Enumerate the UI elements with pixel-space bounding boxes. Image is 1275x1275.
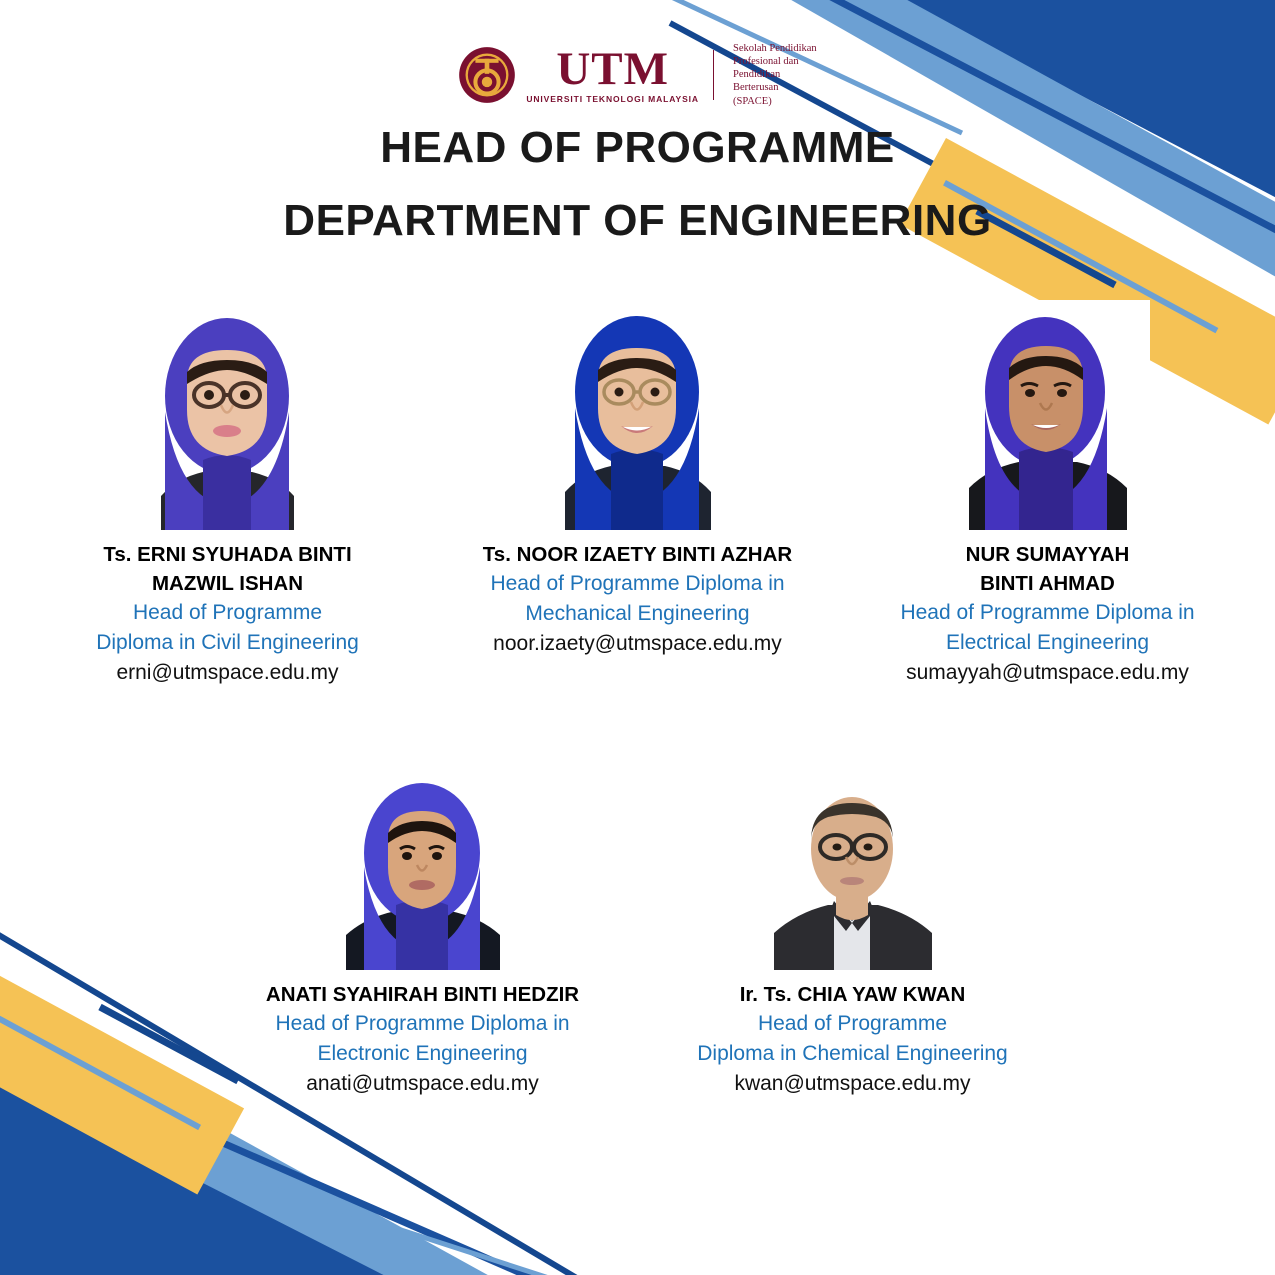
title-line-1: HEAD OF PROGRAMME [0,122,1275,175]
person-role: Head of Programme Diploma in Electrical … [900,598,1194,658]
portrait-nur-sumayyah [945,300,1150,530]
portrait-anati-syahirah [320,775,525,970]
person-email: kwan@utmspace.edu.my [734,1069,970,1099]
logo-space-text: Sekolah Pendidikan Profesional dan Pendi… [733,42,817,108]
person-email: erni@utmspace.edu.my [116,658,338,688]
avatar [535,300,740,530]
person-role: Head of Programme Diploma in Mechanical … [490,569,784,629]
portrait-chia-yaw-kwan [750,775,955,970]
person-card-nur-sumayyah: NUR SUMAYYAH BINTI AHMAD Head of Program… [843,300,1253,688]
logo-wordmark: UTM [556,46,669,93]
person-name: NUR SUMAYYAH BINTI AHMAD [966,540,1130,598]
people-row-1: Ts. ERNI SYUHADA BINTI MAZWIL ISHAN Head… [0,300,1275,688]
person-name: Ts. NOOR IZAETY BINTI AZHAR [483,540,792,569]
person-name: ANATI SYAHIRAH BINTI HEDZIR [266,980,579,1009]
people-row-2: ANATI SYAHIRAH BINTI HEDZIR Head of Prog… [0,775,1275,1099]
person-card-anati-syahirah: ANATI SYAHIRAH BINTI HEDZIR Head of Prog… [208,775,638,1099]
logo-divider [713,50,714,100]
person-role: Head of Programme Diploma in Civil Engin… [96,598,359,658]
utm-space-logo: UTM UNIVERSITI TEKNOLOGI MALAYSIA Sekola… [0,42,1275,108]
person-role: Head of Programme Diploma in Electronic … [275,1009,569,1069]
logo-tagline: UNIVERSITI TEKNOLOGI MALAYSIA [526,95,699,104]
person-name: Ir. Ts. CHIA YAW KWAN [740,980,966,1009]
person-email: sumayyah@utmspace.edu.my [906,658,1189,688]
person-role: Head of Programme Diploma in Chemical En… [697,1009,1008,1069]
avatar [320,775,525,970]
person-name: Ts. ERNI SYUHADA BINTI MAZWIL ISHAN [103,540,351,598]
person-email: anati@utmspace.edu.my [306,1069,539,1099]
person-card-erni-syuhada: Ts. ERNI SYUHADA BINTI MAZWIL ISHAN Head… [23,300,433,688]
title-line-2: DEPARTMENT OF ENGINEERING [0,195,1275,248]
poster-canvas: UTM UNIVERSITI TEKNOLOGI MALAYSIA Sekola… [0,0,1275,1275]
avatar [750,775,955,970]
portrait-erni-syuhada [125,300,330,530]
person-card-noor-izaety: Ts. NOOR IZAETY BINTI AZHAR Head of Prog… [433,300,843,688]
person-card-chia-yaw-kwan: Ir. Ts. CHIA YAW KWAN Head of Programme … [638,775,1068,1099]
utm-seal-icon [458,46,516,104]
page-title: HEAD OF PROGRAMME DEPARTMENT OF ENGINEER… [0,122,1275,248]
portrait-noor-izaety [535,300,740,530]
person-email: noor.izaety@utmspace.edu.my [493,629,782,659]
avatar [125,300,330,530]
avatar [945,300,1150,530]
